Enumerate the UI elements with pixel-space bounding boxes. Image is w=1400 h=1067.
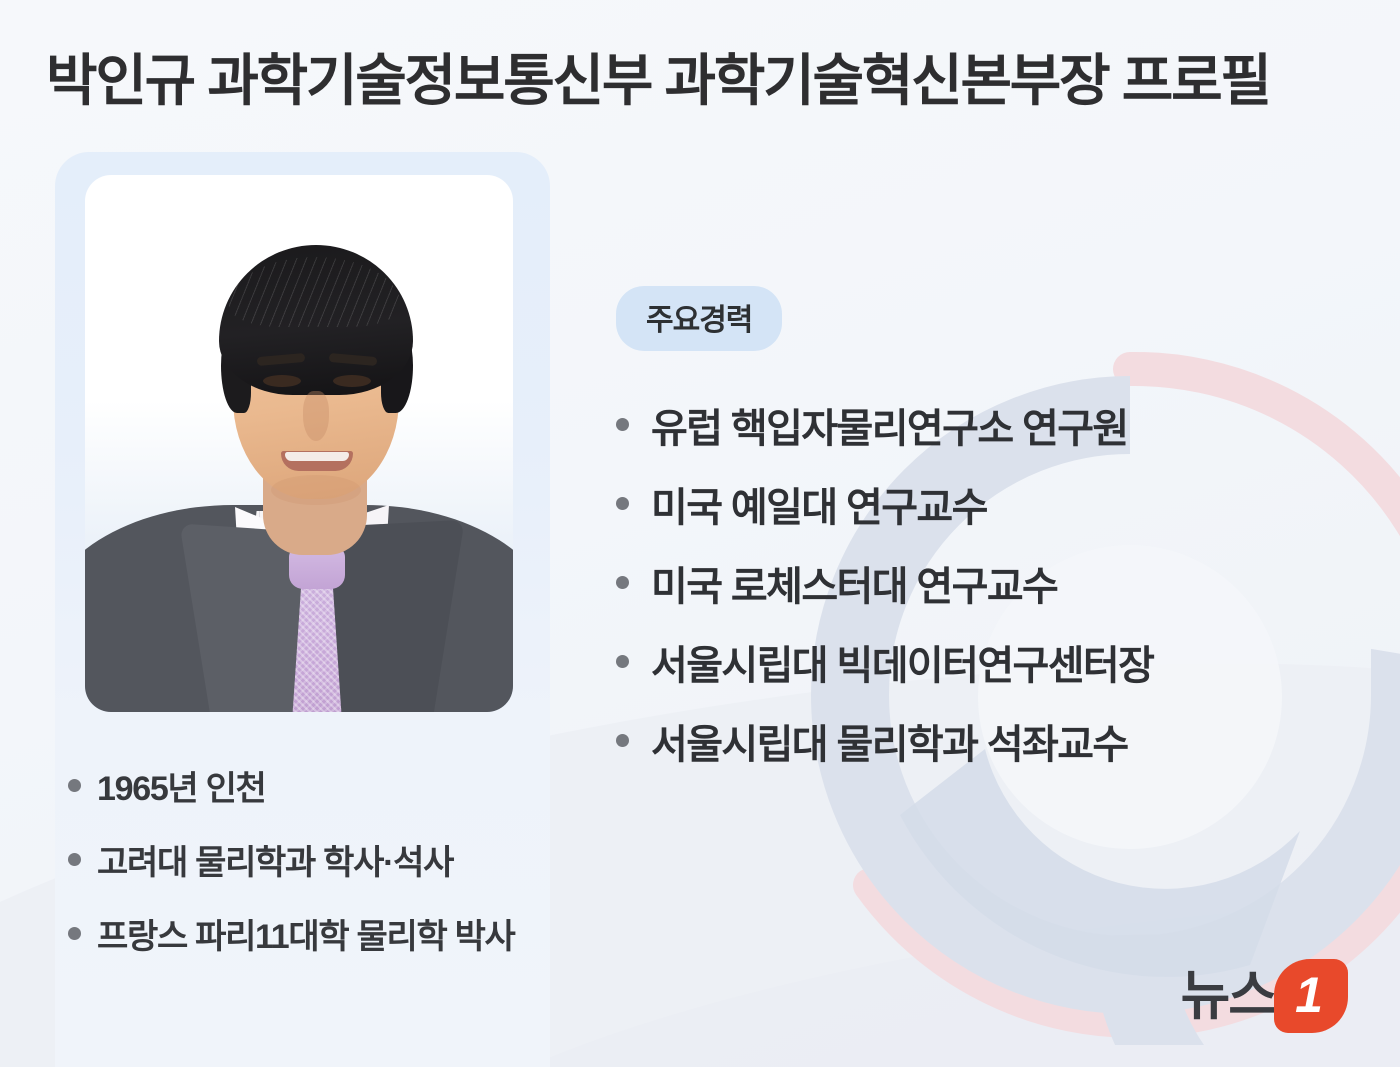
portrait-nose (303, 391, 329, 441)
career-item-label: 미국 로체스터대 연구교수 (651, 554, 1057, 612)
bullet-dot-icon (616, 418, 629, 431)
list-item: 프랑스 파리11대학 물리학 박사 (68, 896, 568, 970)
career-item-label: 서울시립대 물리학과 석좌교수 (651, 712, 1128, 770)
list-item: 미국 예일대 연구교수 (616, 464, 1356, 543)
career-section-badge: 주요경력 (616, 286, 782, 351)
list-item: 서울시립대 물리학과 석좌교수 (616, 701, 1356, 780)
career-item-label: 서울시립대 빅데이터연구센터장 (651, 633, 1153, 691)
list-item: 서울시립대 빅데이터연구센터장 (616, 622, 1356, 701)
career-section: 주요경력 유럽 핵입자물리연구소 연구원 미국 예일대 연구교수 미국 로체스터… (616, 286, 1356, 780)
list-item: 1965년 인천 (68, 748, 568, 822)
career-list: 유럽 핵입자물리연구소 연구원 미국 예일대 연구교수 미국 로체스터대 연구교… (616, 385, 1356, 780)
portrait-illustration (85, 175, 513, 712)
profile-fact-label: 프랑스 파리11대학 물리학 박사 (97, 909, 515, 958)
career-item-label: 미국 예일대 연구교수 (651, 475, 987, 533)
bullet-dot-icon (68, 927, 81, 940)
logo-numeral: 1 (1295, 970, 1323, 1020)
list-item: 미국 로체스터대 연구교수 (616, 543, 1356, 622)
portrait-teeth (285, 452, 349, 461)
list-item: 유럽 핵입자물리연구소 연구원 (616, 385, 1356, 464)
bullet-dot-icon (68, 779, 81, 792)
profile-photo (85, 175, 513, 712)
bullet-dot-icon (616, 497, 629, 510)
profile-fact-label: 고려대 물리학과 학사·석사 (97, 835, 453, 884)
bullet-dot-icon (616, 576, 629, 589)
portrait-chin (271, 475, 361, 505)
news1-logo: 뉴스 1 (1181, 959, 1348, 1033)
portrait-hair (219, 245, 413, 395)
bullet-dot-icon (68, 853, 81, 866)
list-item: 고려대 물리학과 학사·석사 (68, 822, 568, 896)
logo-mark-icon: 1 (1274, 959, 1348, 1033)
logo-wordmark: 뉴스 (1181, 969, 1276, 1023)
profile-fact-label: 1965년 인천 (97, 761, 266, 810)
portrait-eye-left (263, 375, 301, 387)
profile-facts-list: 1965년 인천 고려대 물리학과 학사·석사 프랑스 파리11대학 물리학 박… (68, 748, 568, 970)
bullet-dot-icon (616, 734, 629, 747)
career-item-label: 유럽 핵입자물리연구소 연구원 (651, 396, 1128, 454)
bullet-dot-icon (616, 655, 629, 668)
page-title: 박인규 과학기술정보통신부 과학기술혁신본부장 프로필 (46, 36, 1270, 117)
portrait-eye-right (333, 375, 371, 387)
